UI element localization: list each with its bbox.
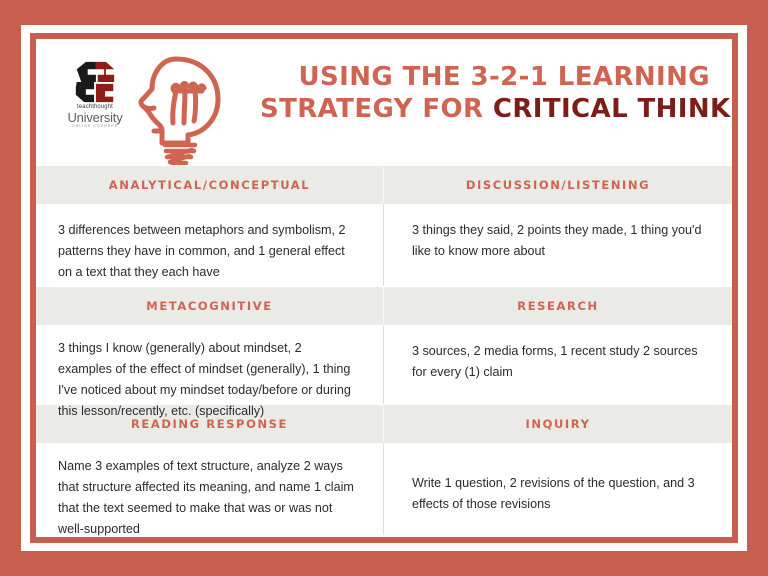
cell-text: 3 sources, 2 media forms, 1 recent study… xyxy=(412,341,704,383)
teachthought-logo-icon xyxy=(72,61,118,103)
column-heading: DISCUSSION/LISTENING xyxy=(466,178,650,192)
column-heading: INQUIRY xyxy=(525,417,590,431)
cell-text: Write 1 question, 2 revisions of the que… xyxy=(412,473,704,515)
masthead: teachthought University ONLINE COURSES xyxy=(36,39,732,165)
column-heading: METACOGNITIVE xyxy=(146,299,272,313)
column-heading: RESEARCH xyxy=(517,299,598,313)
header-cell-inquiry: INQUIRY xyxy=(384,405,732,443)
head-lightbulb-icon xyxy=(132,51,228,165)
header-cell-reading-response: READING RESPONSE xyxy=(36,405,384,443)
body-cell-discussion: 3 things they said, 2 points they made, … xyxy=(384,204,732,286)
table-row: 3 differences between metaphors and symb… xyxy=(36,204,732,286)
table-row-header: METACOGNITIVE RESEARCH xyxy=(36,286,732,325)
cell-text: 3 differences between metaphors and symb… xyxy=(58,220,355,283)
body-cell-research: 3 sources, 2 media forms, 1 recent study… xyxy=(384,325,732,404)
body-cell-inquiry: Write 1 question, 2 revisions of the que… xyxy=(384,443,732,535)
brand-logo: teachthought University ONLINE COURSES xyxy=(62,61,128,129)
poster-title: USING THE 3-2-1 LEARNING STRATEGY FOR CR… xyxy=(260,61,710,125)
column-heading: ANALYTICAL/CONCEPTUAL xyxy=(109,178,311,192)
body-cell-analytical: 3 differences between metaphors and symb… xyxy=(36,204,384,286)
body-cell-metacognitive: 3 things I know (generally) about mindse… xyxy=(36,325,384,404)
brand-name-main: University xyxy=(62,111,128,124)
title-line-2-normal: STRATEGY FOR xyxy=(260,94,493,124)
title-line-2: STRATEGY FOR CRITICAL THINKING xyxy=(260,93,710,125)
poster-card: teachthought University ONLINE COURSES xyxy=(36,39,732,537)
header-cell-research: RESEARCH xyxy=(384,287,732,325)
header-cell-metacognitive: METACOGNITIVE xyxy=(36,287,384,325)
header-cell-analytical: ANALYTICAL/CONCEPTUAL xyxy=(36,166,384,204)
strategy-grid: ANALYTICAL/CONCEPTUAL DISCUSSION/LISTENI… xyxy=(36,165,732,535)
table-row: 3 things I know (generally) about mindse… xyxy=(36,325,732,404)
cell-text: 3 things they said, 2 points they made, … xyxy=(412,220,704,262)
title-line-2-accent: CRITICAL THINKING xyxy=(493,94,732,124)
column-heading: READING RESPONSE xyxy=(131,417,288,431)
table-row-header: READING RESPONSE INQUIRY xyxy=(36,404,732,443)
table-row: Name 3 examples of text structure, analy… xyxy=(36,443,732,535)
title-line-1: USING THE 3-2-1 LEARNING xyxy=(260,61,710,93)
body-cell-reading-response: Name 3 examples of text structure, analy… xyxy=(36,443,384,535)
table-row-header: ANALYTICAL/CONCEPTUAL DISCUSSION/LISTENI… xyxy=(36,165,732,204)
cell-text: Name 3 examples of text structure, analy… xyxy=(58,456,355,537)
header-cell-discussion: DISCUSSION/LISTENING xyxy=(384,166,732,204)
poster-root: teachthought University ONLINE COURSES xyxy=(0,0,768,576)
